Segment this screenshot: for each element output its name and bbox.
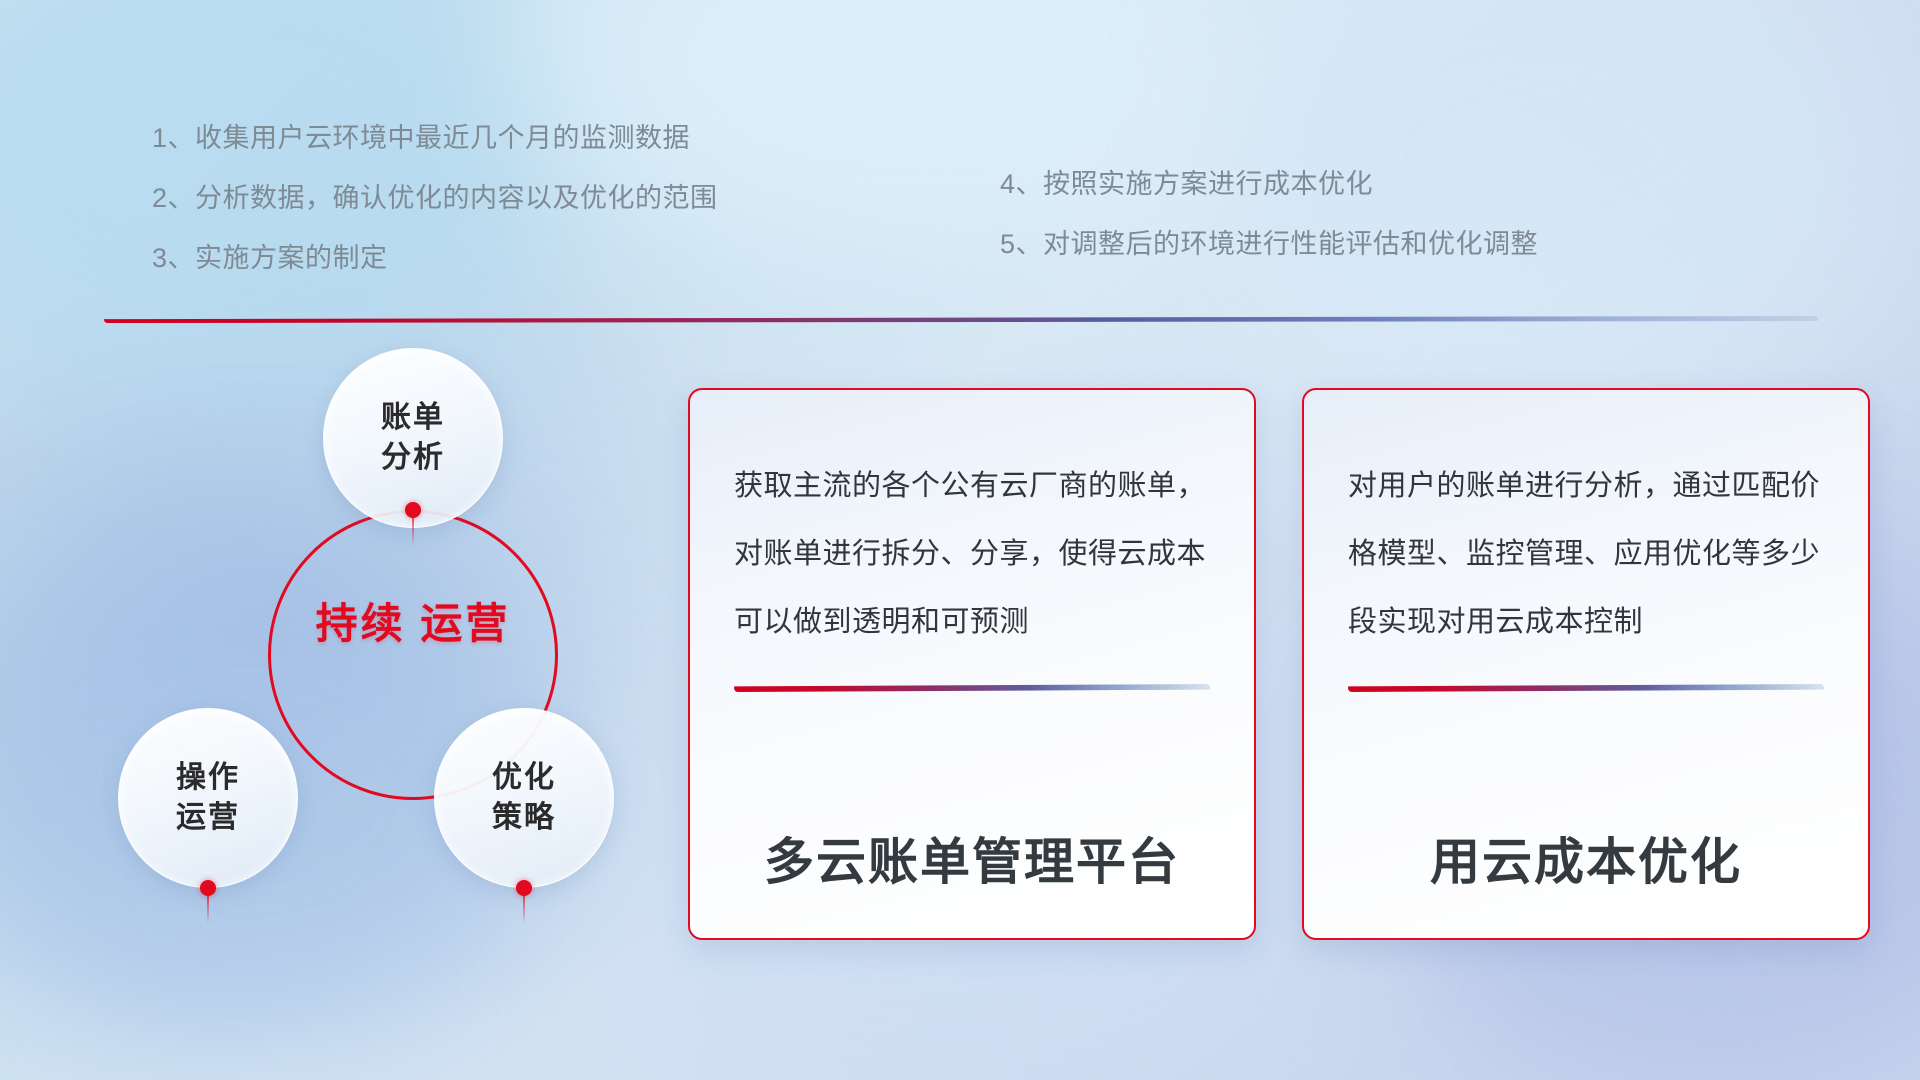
step-item-2: 2、分析数据，确认优化的内容以及优化的范围 <box>152 168 718 228</box>
step-item-5: 5、对调整后的环境进行性能评估和优化调整 <box>1000 214 1538 274</box>
node-label-line2: 策略 <box>492 798 556 838</box>
steps-left-column: 1、收集用户云环境中最近几个月的监测数据 2、分析数据，确认优化的内容以及优化的… <box>152 108 718 288</box>
continuous-operation-diagram: 持续 运营 账单 分析 操作 运营 优化 策略 <box>90 330 650 960</box>
card-title: 多云账单管理平台 <box>734 822 1210 894</box>
step-item-4: 4、按照实施方案进行成本优化 <box>1000 154 1538 214</box>
card-cloud-cost-optimization[interactable]: 对用户的账单进行分析，通过匹配价格模型、监控管理、应用优化等多少段实现对用云成本… <box>1302 388 1870 940</box>
diagram-center-label: 持续 运营 <box>288 598 538 650</box>
node-dot-icon <box>516 880 532 896</box>
section-divider <box>104 316 1818 323</box>
center-label-line1: 持续 <box>316 600 406 647</box>
step-item-1: 1、收集用户云环境中最近几个月的监测数据 <box>152 108 718 168</box>
center-label-line2: 运营 <box>420 600 510 647</box>
card-body-text: 获取主流的各个公有云厂商的账单，对账单进行拆分、分享，使得云成本可以做到透明和可… <box>734 452 1210 656</box>
card-accent-rule <box>734 684 1210 692</box>
node-connector-tail <box>207 894 209 924</box>
node-label-line1: 账单 <box>381 398 445 438</box>
diagram-node-operations[interactable]: 操作 运营 <box>118 708 298 888</box>
node-label-line1: 优化 <box>492 758 556 798</box>
steps-right-column: 4、按照实施方案进行成本优化 5、对调整后的环境进行性能评估和优化调整 <box>1000 154 1538 274</box>
card-body-text: 对用户的账单进行分析，通过匹配价格模型、监控管理、应用优化等多少段实现对用云成本… <box>1348 452 1824 656</box>
card-accent-rule <box>1348 684 1824 692</box>
node-label-line2: 运营 <box>176 798 240 838</box>
node-connector-tail <box>523 894 525 924</box>
diagram-node-optimization-strategy[interactable]: 优化 策略 <box>434 708 614 888</box>
node-dot-icon <box>405 502 421 518</box>
diagram-node-bill-analysis[interactable]: 账单 分析 <box>323 348 503 528</box>
node-connector-tail <box>412 516 414 546</box>
slide-canvas: 1、收集用户云环境中最近几个月的监测数据 2、分析数据，确认优化的内容以及优化的… <box>0 0 1920 1080</box>
node-label-line1: 操作 <box>176 758 240 798</box>
card-multi-cloud-billing-platform[interactable]: 获取主流的各个公有云厂商的账单，对账单进行拆分、分享，使得云成本可以做到透明和可… <box>688 388 1256 940</box>
node-label-line2: 分析 <box>381 438 445 478</box>
node-dot-icon <box>200 880 216 896</box>
step-item-3: 3、实施方案的制定 <box>152 228 718 288</box>
card-title: 用云成本优化 <box>1348 822 1824 894</box>
